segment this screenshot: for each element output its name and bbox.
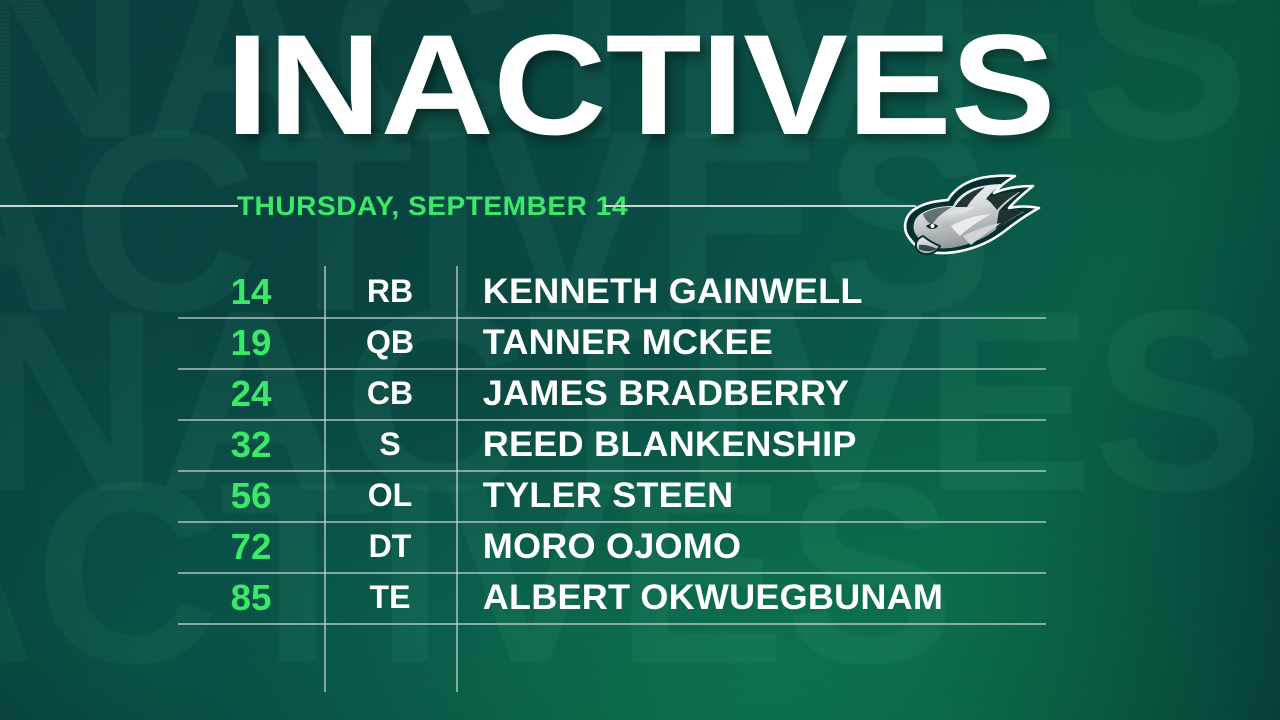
- player-position: S: [324, 426, 456, 463]
- player-name: TYLER STEEN: [456, 476, 1064, 516]
- player-name: JAMES BRADBERRY: [456, 374, 1064, 414]
- table-row: 85 TE ALBERT OKWUEGBUNAM: [178, 572, 1046, 623]
- player-name: MORO OJOMO: [456, 527, 1064, 567]
- jersey-number: 24: [177, 373, 326, 415]
- table-row: 32 S REED BLANKENSHIP: [178, 419, 1046, 470]
- divider-rule-right: [604, 205, 916, 207]
- jersey-number: 19: [177, 322, 326, 364]
- inactives-graphic: NACTIVES ACTIVES NACTIVES ACTIVES INACTI…: [0, 0, 1280, 720]
- player-position: TE: [324, 579, 456, 616]
- player-position: CB: [324, 375, 456, 412]
- table-row-empty: [178, 623, 1046, 674]
- jersey-number: 14: [177, 271, 326, 313]
- inactives-table: 14 RB KENNETH GAINWELL 19 QB TANNER MCKE…: [178, 266, 1046, 692]
- table-row: 72 DT MORO OJOMO: [178, 521, 1046, 572]
- player-name: REED BLANKENSHIP: [456, 425, 1064, 465]
- divider-rule-left: [0, 205, 238, 207]
- player-position: QB: [324, 324, 456, 361]
- jersey-number: 56: [177, 475, 326, 517]
- table-row: 19 QB TANNER MCKEE: [178, 317, 1046, 368]
- player-name: ALBERT OKWUEGBUNAM: [456, 578, 1064, 618]
- jersey-number: 32: [177, 424, 326, 466]
- table-row: 24 CB JAMES BRADBERRY: [178, 368, 1046, 419]
- subtitle-row: THURSDAY, SEPTEMBER 14: [0, 186, 1280, 226]
- table-row: 14 RB KENNETH GAINWELL: [178, 266, 1046, 317]
- player-position: OL: [324, 477, 456, 514]
- player-position: RB: [324, 273, 456, 310]
- jersey-number: 85: [177, 577, 326, 619]
- player-name: KENNETH GAINWELL: [456, 272, 1064, 312]
- player-name: TANNER MCKEE: [456, 323, 1064, 363]
- page-title: INACTIVES: [0, 14, 1280, 157]
- player-position: DT: [324, 528, 456, 565]
- subtitle-date: THURSDAY, SEPTEMBER 14: [237, 186, 607, 226]
- table-row: 56 OL TYLER STEEN: [178, 470, 1046, 521]
- jersey-number: 72: [177, 526, 326, 568]
- philadelphia-eagles-logo: [893, 166, 1043, 264]
